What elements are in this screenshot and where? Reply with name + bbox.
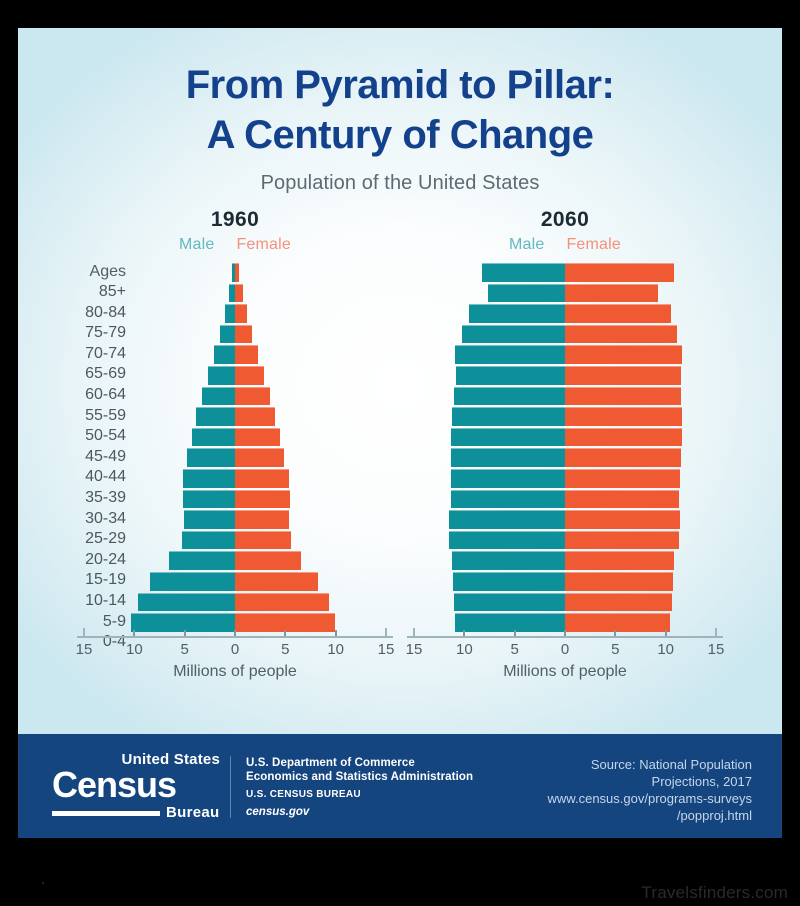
page-title-line2: A Century of Change [18, 110, 782, 160]
bar-female [235, 551, 301, 570]
axis-tick-label: 15 [696, 641, 736, 658]
pyramid-row [70, 489, 400, 510]
logo-bottom-row: Bureau [52, 804, 222, 822]
pyramid-row [70, 530, 400, 551]
bar-female [235, 366, 264, 385]
bar-male [220, 325, 235, 344]
axis-title: Millions of people [400, 663, 730, 681]
axis-tick [514, 630, 516, 636]
bar-female [565, 469, 680, 488]
page-title-line1: From Pyramid to Pillar: [18, 60, 782, 110]
bar-male [454, 387, 565, 406]
bar-male [184, 510, 235, 529]
bar-male [449, 510, 565, 529]
bar-male [452, 551, 565, 570]
pyramid-row [70, 406, 400, 427]
pyramid-row [70, 571, 400, 592]
census-logo: United States Census Bureau [52, 752, 222, 822]
axis-title: Millions of people [70, 663, 400, 681]
pyramid-row [400, 550, 730, 571]
pyramid-row [400, 283, 730, 304]
axis-tick [463, 630, 465, 636]
axis-tick [133, 630, 135, 636]
bar-female [565, 387, 681, 406]
axis-tick [413, 628, 415, 636]
source-line2: Projections, 2017 [548, 773, 752, 790]
chart-legend: MaleFemale [400, 236, 730, 254]
pyramid-row [70, 303, 400, 324]
bar-male [214, 345, 235, 364]
axis-tick [665, 630, 667, 636]
bar-female [565, 428, 682, 447]
bar-male [202, 387, 235, 406]
axis-tick-label: 15 [394, 641, 434, 658]
footer: United States Census Bureau U.S. Departm… [18, 734, 782, 838]
bar-male [131, 613, 235, 632]
bar-male [138, 593, 235, 612]
bar-female [565, 572, 673, 591]
pyramid-row [400, 592, 730, 613]
chart-plot-area [70, 262, 400, 634]
bar-female [235, 304, 247, 323]
axis-tick-label: 10 [444, 641, 484, 658]
axis-tick [335, 630, 337, 636]
pyramid-row [400, 468, 730, 489]
bar-female [235, 284, 243, 303]
watermark: Travelsfinders.com [641, 883, 788, 903]
source-url-line2[interactable]: /popproj.html [548, 807, 752, 824]
axis-line [407, 636, 723, 638]
bar-male [183, 469, 235, 488]
axis-tick [385, 628, 387, 636]
bar-female [235, 428, 280, 447]
bar-male [455, 345, 565, 364]
pyramid-row [400, 509, 730, 530]
bar-male [451, 469, 565, 488]
pyramid-row [70, 283, 400, 304]
bar-male [192, 428, 235, 447]
bar-male [469, 304, 565, 323]
pyramid-row [70, 262, 400, 283]
bar-female [235, 490, 290, 509]
legend-female: Female [566, 236, 621, 253]
bar-female [235, 263, 239, 282]
bar-female [565, 490, 679, 509]
chart-year-heading: 1960 [70, 208, 400, 232]
axis-tick-label: 10 [316, 641, 356, 658]
pyramid-row [70, 386, 400, 407]
bar-female [235, 510, 289, 529]
bar-male [196, 407, 235, 426]
pyramid-row [400, 571, 730, 592]
pyramid-row [70, 592, 400, 613]
bar-female [565, 407, 682, 426]
chart-plot-area [400, 262, 730, 634]
axis-tick [83, 628, 85, 636]
header: From Pyramid to Pillar: A Century of Cha… [18, 28, 782, 195]
pyramid-row [70, 324, 400, 345]
footer-divider [230, 756, 231, 818]
pyramid-row [400, 427, 730, 448]
axis-tick-label: 15 [64, 641, 104, 658]
bar-male [182, 531, 235, 550]
logo-census: Census [52, 767, 222, 803]
chart-legend: MaleFemale [70, 236, 400, 254]
axis-tick [715, 628, 717, 636]
pyramid-row [400, 406, 730, 427]
bar-female [235, 407, 275, 426]
source-block: Source: National Population Projections,… [548, 756, 752, 824]
logo-rule [52, 811, 160, 816]
pyramid-row [70, 365, 400, 386]
logo-bureau: Bureau [166, 804, 219, 821]
source-line1: Source: National Population [548, 756, 752, 773]
chart-x-axis: 15105051015Millions of people [400, 636, 730, 682]
bar-female [565, 345, 682, 364]
charts-container: 1960MaleFemale15105051015Millions of peo… [18, 206, 782, 706]
pyramid-row [70, 468, 400, 489]
pyramid-row [400, 386, 730, 407]
agency-bureau: U.S. CENSUS BUREAU [246, 788, 473, 802]
axis-tick [234, 630, 236, 636]
bar-female [235, 613, 335, 632]
bar-female [235, 345, 258, 364]
bar-male [169, 551, 235, 570]
bar-male [456, 366, 565, 385]
bar-female [235, 448, 284, 467]
bar-female [565, 551, 674, 570]
pyramid-row [400, 344, 730, 365]
axis-line [77, 636, 393, 638]
bar-female [565, 325, 677, 344]
agency-block: U.S. Department of Commerce Economics an… [246, 756, 473, 819]
pyramid-row [400, 365, 730, 386]
axis-tick [564, 630, 566, 636]
pyramid-row [70, 344, 400, 365]
axis-tick-label: 5 [495, 641, 535, 658]
bar-female [235, 469, 289, 488]
chart-panel-1960: 1960MaleFemale15105051015Millions of peo… [70, 206, 400, 686]
bar-male [451, 448, 565, 467]
bar-male [208, 366, 235, 385]
bar-male [225, 304, 235, 323]
axis-tick-label: 5 [265, 641, 305, 658]
pyramid-row [400, 262, 730, 283]
infographic-card: From Pyramid to Pillar: A Century of Cha… [18, 28, 782, 838]
bar-female [235, 572, 318, 591]
bar-female [235, 325, 252, 344]
pyramid-row [400, 489, 730, 510]
source-url-line1[interactable]: www.census.gov/programs-surveys [548, 790, 752, 807]
pyramid-row [400, 324, 730, 345]
image-frame: From Pyramid to Pillar: A Century of Cha… [0, 0, 800, 906]
bar-male [482, 263, 565, 282]
bar-female [235, 531, 291, 550]
agency-department: U.S. Department of Commerce [246, 756, 473, 770]
bar-female [565, 613, 670, 632]
axis-tick-label: 5 [595, 641, 635, 658]
pyramid-row [400, 303, 730, 324]
chart-x-axis: 15105051015Millions of people [70, 636, 400, 682]
agency-website[interactable]: census.gov [246, 805, 473, 819]
bar-male [454, 593, 565, 612]
legend-male: Male [179, 236, 214, 253]
corner-mark: . [41, 871, 45, 888]
bar-female [565, 284, 658, 303]
pyramid-row [70, 447, 400, 468]
agency-administration: Economics and Statistics Administration [246, 770, 473, 784]
pyramid-row [70, 509, 400, 530]
bar-male [183, 490, 235, 509]
bar-female [565, 366, 681, 385]
axis-tick [184, 630, 186, 636]
bar-male [488, 284, 566, 303]
bar-male [451, 428, 565, 447]
bar-female [565, 304, 671, 323]
pyramid-row [400, 447, 730, 468]
bar-female [235, 387, 270, 406]
bar-female [565, 593, 672, 612]
pyramid-row [400, 530, 730, 551]
bar-female [235, 593, 329, 612]
axis-tick-label: 0 [545, 641, 585, 658]
bar-female [565, 531, 679, 550]
bar-male [449, 531, 565, 550]
bar-male [462, 325, 565, 344]
axis-tick-label: 10 [646, 641, 686, 658]
bar-female [565, 448, 681, 467]
axis-tick-label: 10 [114, 641, 154, 658]
legend-male: Male [509, 236, 544, 253]
bar-male [455, 613, 565, 632]
bar-male [150, 572, 235, 591]
bar-male [452, 407, 565, 426]
chart-year-heading: 2060 [400, 208, 730, 232]
pyramid-row [70, 427, 400, 448]
legend-female: Female [236, 236, 291, 253]
axis-tick-label: 5 [165, 641, 205, 658]
bar-male [187, 448, 235, 467]
axis-tick-label: 0 [215, 641, 255, 658]
bar-female [565, 510, 680, 529]
chart-panel-2060: 2060MaleFemale15105051015Millions of peo… [400, 206, 730, 686]
axis-tick [614, 630, 616, 636]
bar-female [565, 263, 674, 282]
pyramid-row [70, 550, 400, 571]
bar-male [451, 490, 565, 509]
axis-tick [284, 630, 286, 636]
bar-male [453, 572, 565, 591]
page-subtitle: Population of the United States [18, 172, 782, 195]
